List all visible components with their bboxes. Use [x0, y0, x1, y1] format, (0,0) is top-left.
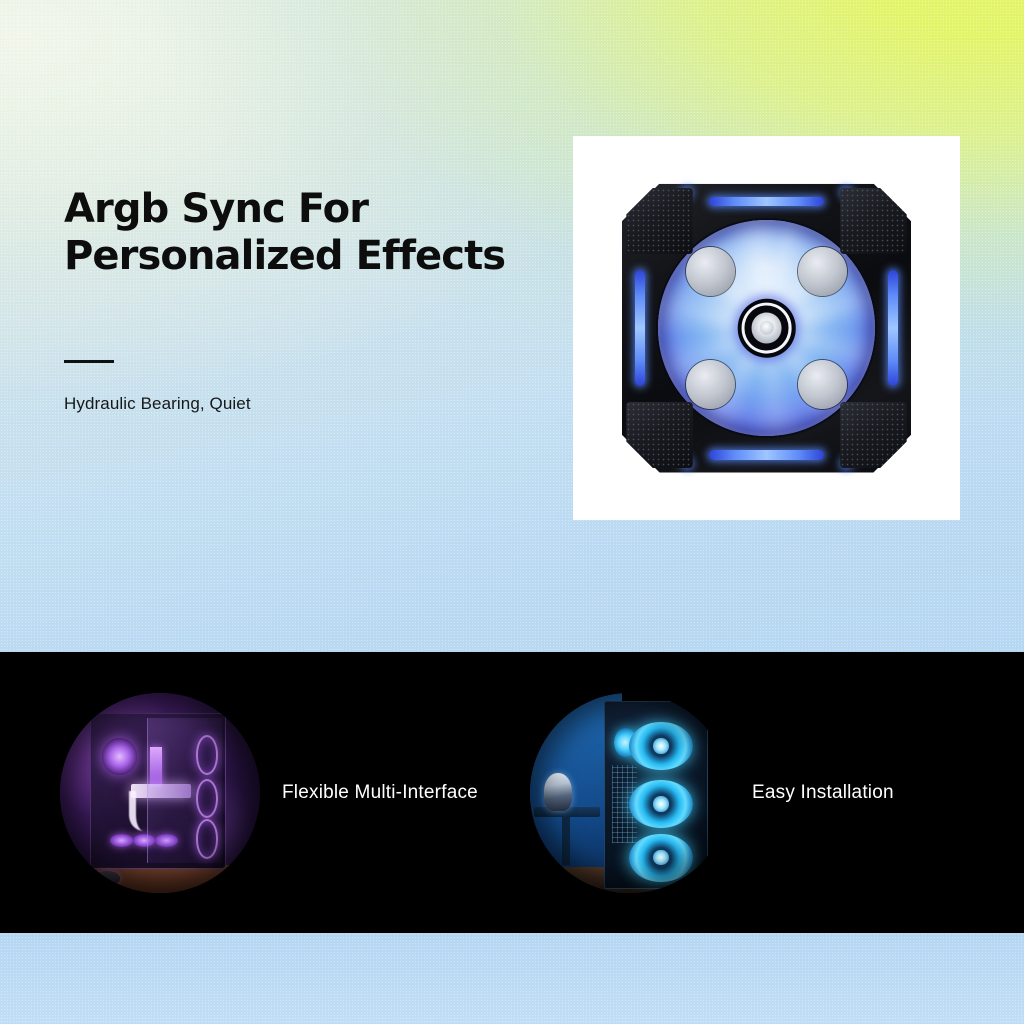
feature-thumbnail-purple-build — [60, 693, 260, 893]
pc-tower-body — [604, 701, 708, 889]
led-bar-right-icon — [888, 270, 898, 386]
front-fan-2-icon — [196, 779, 218, 818]
side-table-leg — [562, 817, 570, 865]
page-title: Argb Sync For Personalized Effects — [64, 186, 534, 280]
tempered-glass-panel — [147, 718, 222, 863]
product-image-card — [573, 136, 960, 520]
hero-subtitle: Hydraulic Bearing, Quiet — [64, 393, 534, 416]
case-fan-illustration — [622, 184, 911, 473]
anime-figurine — [544, 773, 572, 811]
blue-pc-build-image — [530, 693, 730, 893]
hero-section: Argb Sync For Personalized Effects Hydra… — [0, 0, 1024, 652]
led-bar-left-icon — [635, 270, 645, 386]
feature-item-flexible-multi-interface: Flexible Multi-Interface — [60, 652, 500, 933]
title-divider — [64, 360, 114, 363]
front-fan-3-icon — [196, 819, 218, 858]
gaming-mouse — [94, 871, 120, 885]
mount-pad-bottom-left — [626, 402, 692, 468]
cpu-cooler-fan-icon — [102, 738, 137, 775]
footer-noise-overlay — [0, 933, 1024, 1024]
purple-pc-build-image — [60, 693, 260, 893]
feature-strip: Flexible Multi-Interface — [0, 652, 1024, 933]
rgb-fan-3-icon — [629, 834, 692, 882]
led-bar-top-icon — [709, 197, 825, 207]
screw-hole-top-left — [686, 247, 735, 296]
screw-hole-bottom-right — [798, 360, 847, 409]
product-banner: Argb Sync For Personalized Effects Hydra… — [0, 0, 1024, 1024]
fan-hub-center — [759, 321, 773, 335]
screw-hole-bottom-left — [686, 360, 735, 409]
feature-label: Flexible Multi-Interface — [282, 778, 478, 807]
hero-copy: Argb Sync For Personalized Effects Hydra… — [64, 186, 534, 416]
bottom-fan-1-icon — [110, 834, 133, 848]
feature-thumbnail-blue-build — [530, 693, 730, 893]
mount-pad-top-left — [626, 188, 692, 254]
rgb-fan-2-icon — [629, 780, 692, 828]
mount-pad-top-right — [840, 188, 906, 254]
led-bar-bottom-icon — [709, 450, 825, 460]
footer-band — [0, 933, 1024, 1024]
feature-item-easy-installation: Easy Installation — [530, 652, 980, 933]
rgb-fan-1-icon — [629, 722, 692, 770]
fan-hub — [737, 299, 796, 358]
mount-pad-bottom-right — [840, 402, 906, 468]
desk-surface — [60, 865, 260, 893]
pc-case-body — [90, 713, 226, 869]
feature-label: Easy Installation — [752, 778, 894, 807]
front-fan-1-icon — [196, 735, 218, 774]
